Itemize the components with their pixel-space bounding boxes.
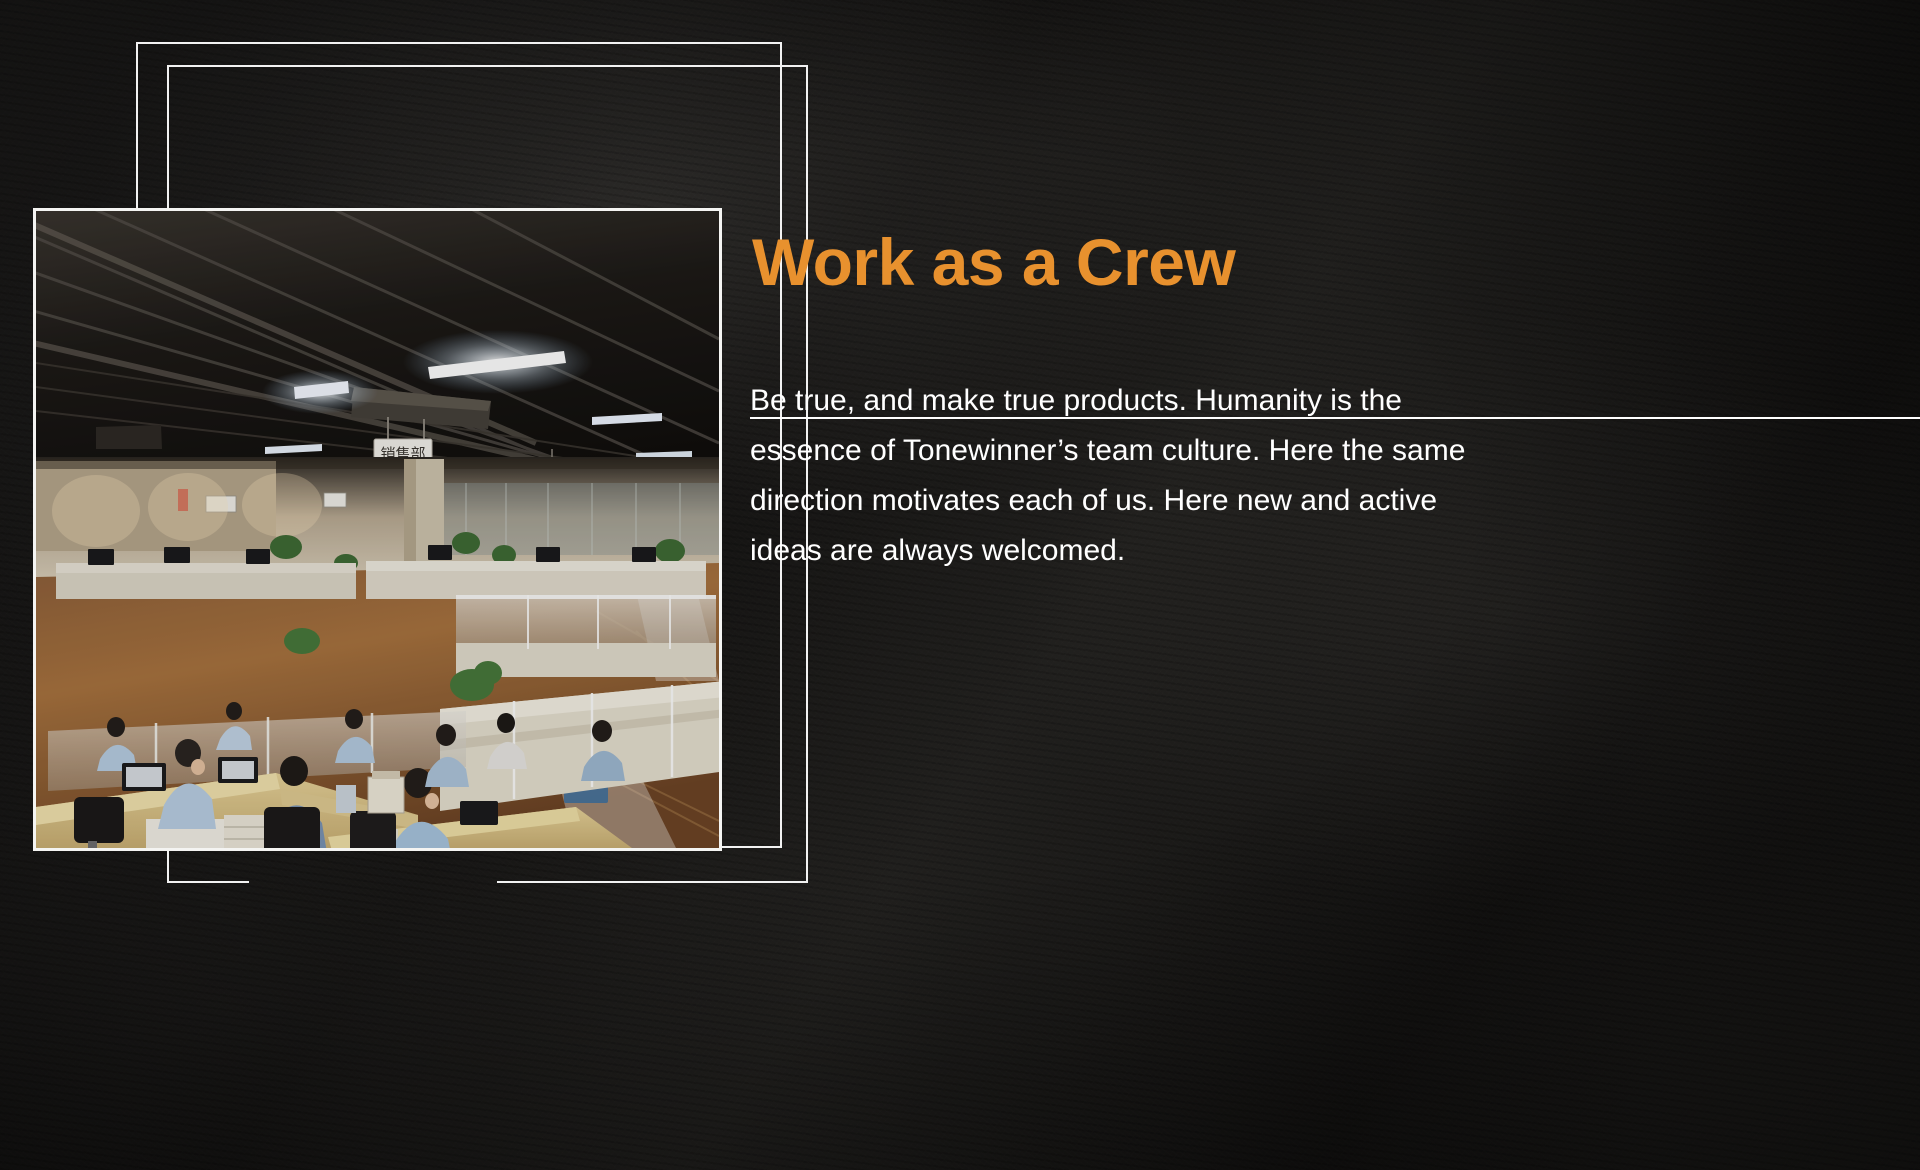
office-photo-illustration: 销售部: [36, 211, 719, 848]
office-photo: 销售部: [33, 208, 722, 851]
decorative-frame-inner-bottom-left-rule: [167, 881, 249, 883]
page-title: Work as a Crew: [752, 228, 1235, 297]
body-paragraph: Be true, and make true products. Humanit…: [750, 376, 1510, 576]
office-photo-image: 销售部: [36, 211, 719, 848]
slide-root: 销售部: [0, 0, 1920, 1170]
decorative-frame-inner-bottom-right-rule: [497, 881, 808, 883]
